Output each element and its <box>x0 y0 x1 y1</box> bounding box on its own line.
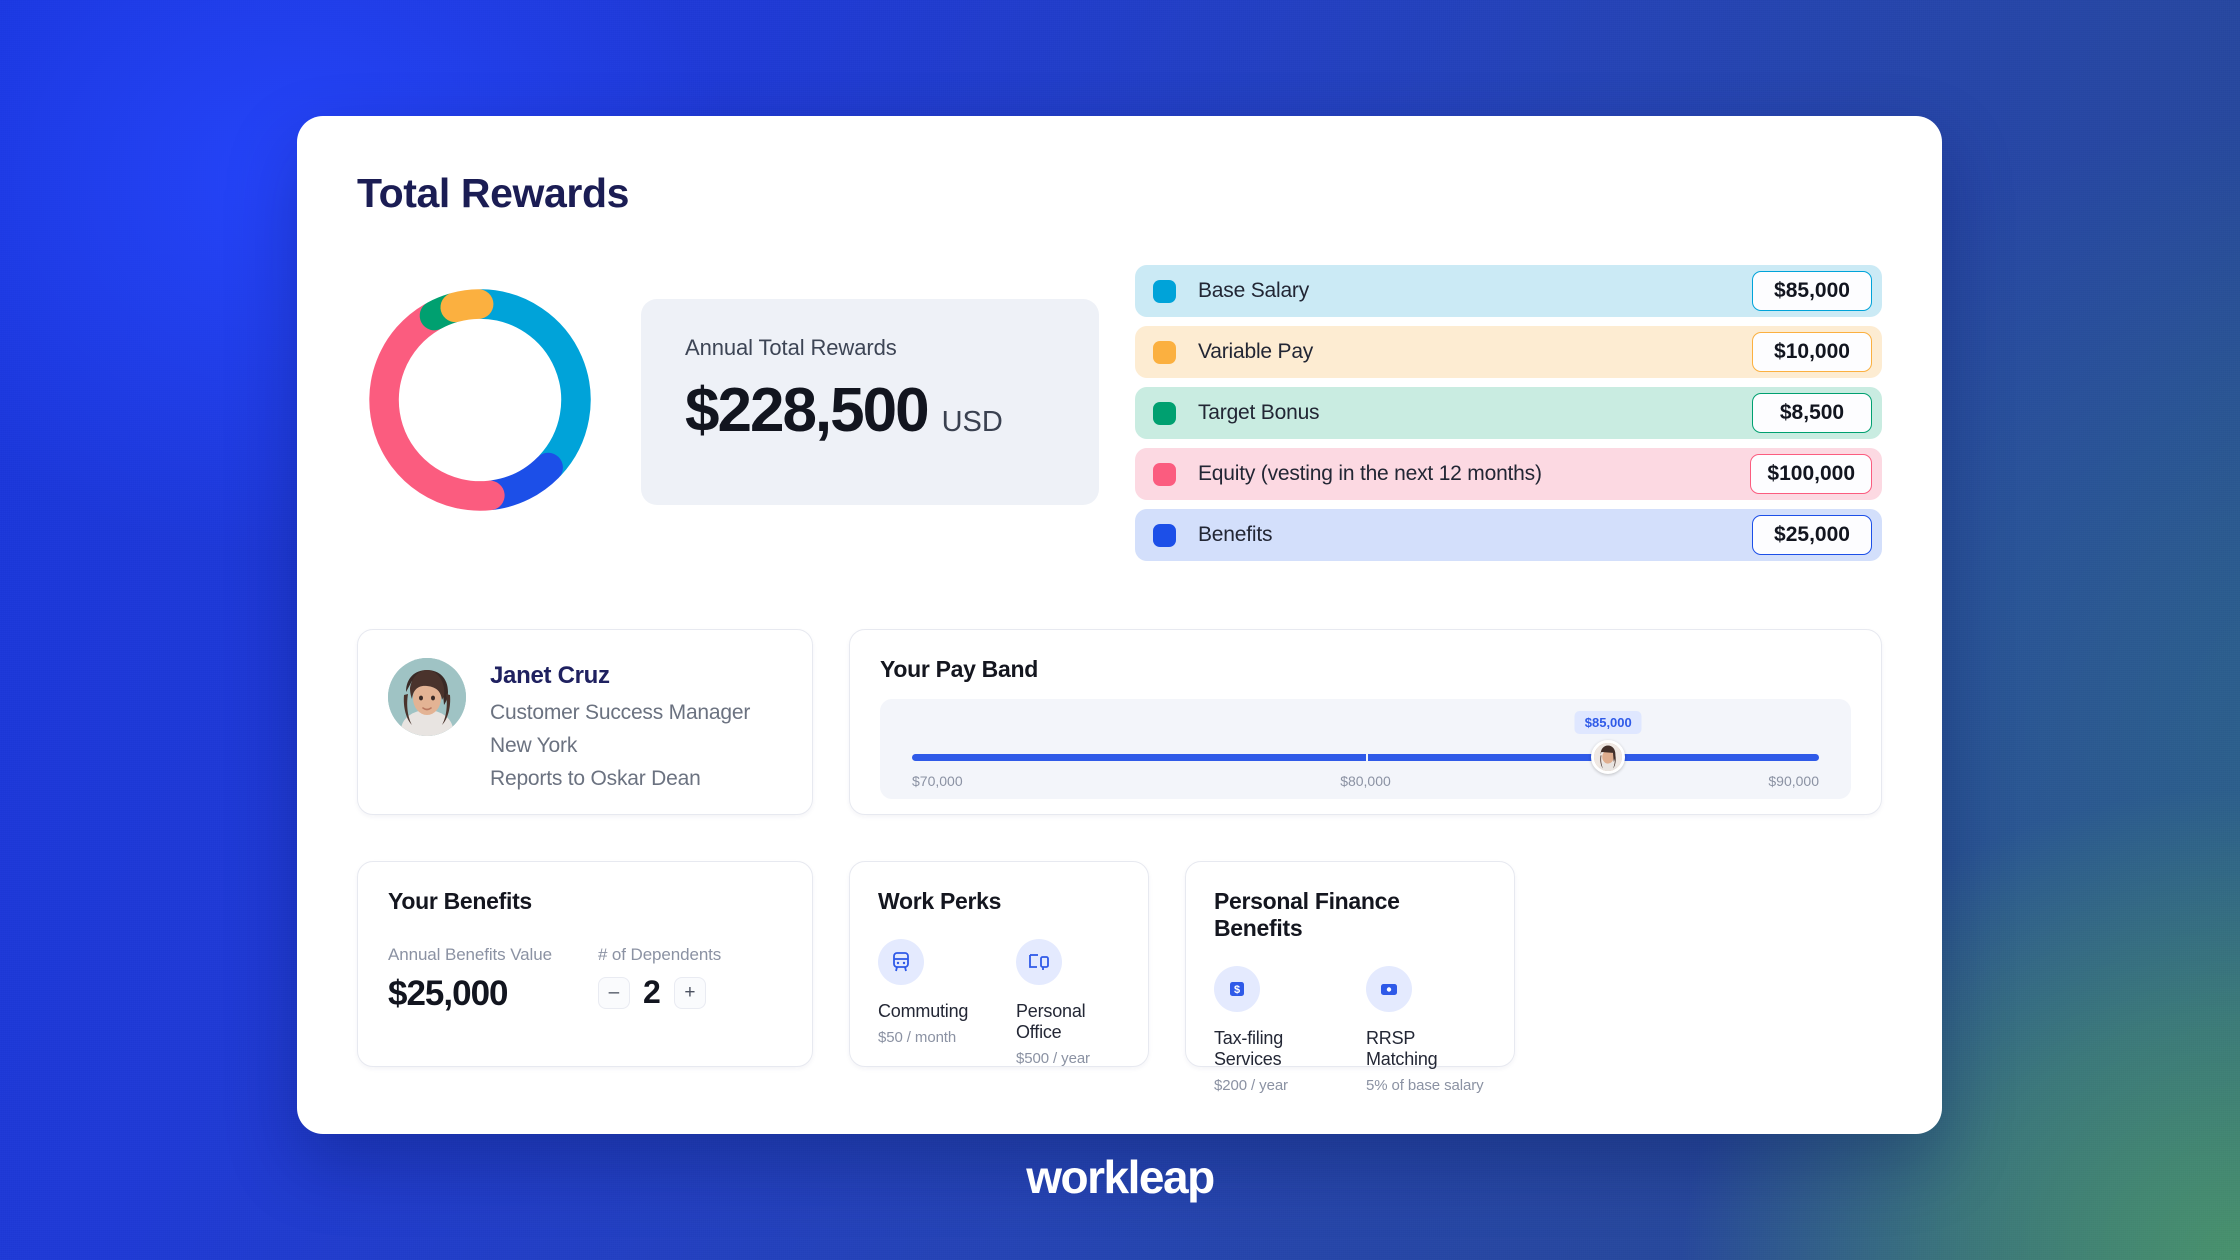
dependents-label: # of Dependents <box>598 945 721 965</box>
legend-color-swatch <box>1153 524 1176 547</box>
perk-commuting[interactable]: Commuting $50 / month <box>878 939 982 1067</box>
summary-row: Annual Total Rewards $228,500 USD Base S… <box>357 263 1882 563</box>
profile-name: Janet Cruz <box>490 662 750 690</box>
legend-color-swatch <box>1153 402 1176 425</box>
legend-color-swatch <box>1153 463 1176 486</box>
your-benefits-title: Your Benefits <box>388 888 782 915</box>
donut-chart <box>357 263 627 523</box>
legend-row[interactable]: Base Salary$85,000 <box>1135 265 1882 317</box>
legend-row[interactable]: Variable Pay$10,000 <box>1135 326 1882 378</box>
finance-rrsp-matching[interactable]: RRSP Matching 5% of base salary <box>1366 966 1484 1094</box>
legend-value-pill: $25,000 <box>1752 515 1872 555</box>
legend-row[interactable]: Benefits$25,000 <box>1135 509 1882 561</box>
legend-color-swatch <box>1153 280 1176 303</box>
personal-finance-card: Personal Finance Benefits $ Tax-filing S… <box>1185 861 1515 1067</box>
work-perks-card: Work Perks Commuting $50 / <box>849 861 1149 1067</box>
handle-avatar-icon <box>1594 743 1622 771</box>
annual-benefits-value: $25,000 <box>388 974 552 1014</box>
workleap-logo: workleap <box>0 1150 2240 1204</box>
total-rewards-card: Total Rewards Annual Total Rewards $228,… <box>297 116 1942 1134</box>
donut-segment[interactable] <box>455 304 478 307</box>
perk-name: RRSP Matching <box>1366 1028 1484 1070</box>
profile-location: New York <box>490 734 750 758</box>
pay-band-mid-label: $80,000 <box>1340 773 1391 789</box>
dependents-block: # of Dependents – 2 + <box>598 945 721 1014</box>
profile-role: Customer Success Manager <box>490 701 750 725</box>
legend-color-swatch <box>1153 341 1176 364</box>
benefits-row: Your Benefits Annual Benefits Value $25,… <box>357 861 1882 1067</box>
desk-monitor-icon <box>1016 939 1062 985</box>
profile-reports-to: Reports to Oskar Dean <box>490 767 750 791</box>
annual-total-panel: Annual Total Rewards $228,500 USD <box>641 299 1099 505</box>
legend-label: Equity (vesting in the next 12 months) <box>1198 462 1750 486</box>
page-title: Total Rewards <box>357 170 1882 217</box>
profile-card: Janet Cruz Customer Success Manager New … <box>357 629 813 815</box>
perk-name: Tax-filing Services <box>1214 1028 1332 1070</box>
legend-value-pill: $10,000 <box>1752 332 1872 372</box>
donut-segment[interactable] <box>384 317 490 496</box>
pay-band-slider[interactable]: $85,000 $70,000 $80,000 $90,000 <box>880 699 1851 799</box>
dollar-document-icon: $ <box>1214 966 1260 1012</box>
dependents-decrement-button[interactable]: – <box>598 977 630 1009</box>
pay-band-scale: $70,000 $80,000 $90,000 <box>912 773 1819 789</box>
pay-band-avatar-handle[interactable] <box>1591 740 1625 774</box>
wallet-icon <box>1366 966 1412 1012</box>
pay-band-min-label: $70,000 <box>912 773 963 789</box>
pay-band-current-tooltip: $85,000 <box>1575 711 1642 734</box>
perk-sub: $500 / year <box>1016 1050 1120 1067</box>
rewards-legend: Base Salary$85,000Variable Pay$10,000Tar… <box>1135 265 1882 561</box>
dependents-increment-button[interactable]: + <box>674 977 706 1009</box>
legend-label: Base Salary <box>1198 279 1752 303</box>
personal-finance-title: Personal Finance Benefits <box>1214 888 1486 942</box>
avatar <box>388 658 466 736</box>
legend-value-pill: $85,000 <box>1752 271 1872 311</box>
perk-sub: $200 / year <box>1214 1077 1332 1094</box>
pay-band-title: Your Pay Band <box>880 656 1851 683</box>
annual-total-currency: USD <box>942 406 1003 439</box>
annual-benefits-value-label: Annual Benefits Value <box>388 945 552 965</box>
your-benefits-card: Your Benefits Annual Benefits Value $25,… <box>357 861 813 1067</box>
legend-label: Variable Pay <box>1198 340 1752 364</box>
donut-segment[interactable] <box>481 304 576 466</box>
legend-value-pill: $8,500 <box>1752 393 1872 433</box>
perk-name: Personal Office <box>1016 1001 1120 1043</box>
annual-benefits-value-block: Annual Benefits Value $25,000 <box>388 945 552 1014</box>
svg-text:$: $ <box>1234 984 1240 996</box>
finance-tax-filing[interactable]: $ Tax-filing Services $200 / year <box>1214 966 1332 1094</box>
legend-row[interactable]: Equity (vesting in the next 12 months)$1… <box>1135 448 1882 500</box>
legend-label: Target Bonus <box>1198 401 1752 425</box>
donut-chart-svg <box>357 277 603 523</box>
legend-label: Benefits <box>1198 523 1752 547</box>
perk-sub: 5% of base salary <box>1366 1077 1484 1094</box>
perk-personal-office[interactable]: Personal Office $500 / year <box>1016 939 1120 1067</box>
annual-total-label: Annual Total Rewards <box>685 335 1059 361</box>
legend-row[interactable]: Target Bonus$8,500 <box>1135 387 1882 439</box>
perk-name: Commuting <box>878 1001 982 1022</box>
pay-band-midpoint-tick <box>1366 751 1368 764</box>
perk-sub: $50 / month <box>878 1029 982 1046</box>
dependents-stepper[interactable]: – 2 + <box>598 974 721 1011</box>
annual-total-amount: $228,500 <box>685 375 928 446</box>
dependents-value: 2 <box>639 974 665 1011</box>
pay-band-card: Your Pay Band $85,000 $70,000 $80 <box>849 629 1882 815</box>
pay-band-max-label: $90,000 <box>1768 773 1819 789</box>
bus-icon <box>878 939 924 985</box>
profile-payband-row: Janet Cruz Customer Success Manager New … <box>357 629 1882 815</box>
avatar-illustration <box>388 658 466 736</box>
work-perks-title: Work Perks <box>878 888 1120 915</box>
legend-value-pill: $100,000 <box>1750 454 1872 494</box>
